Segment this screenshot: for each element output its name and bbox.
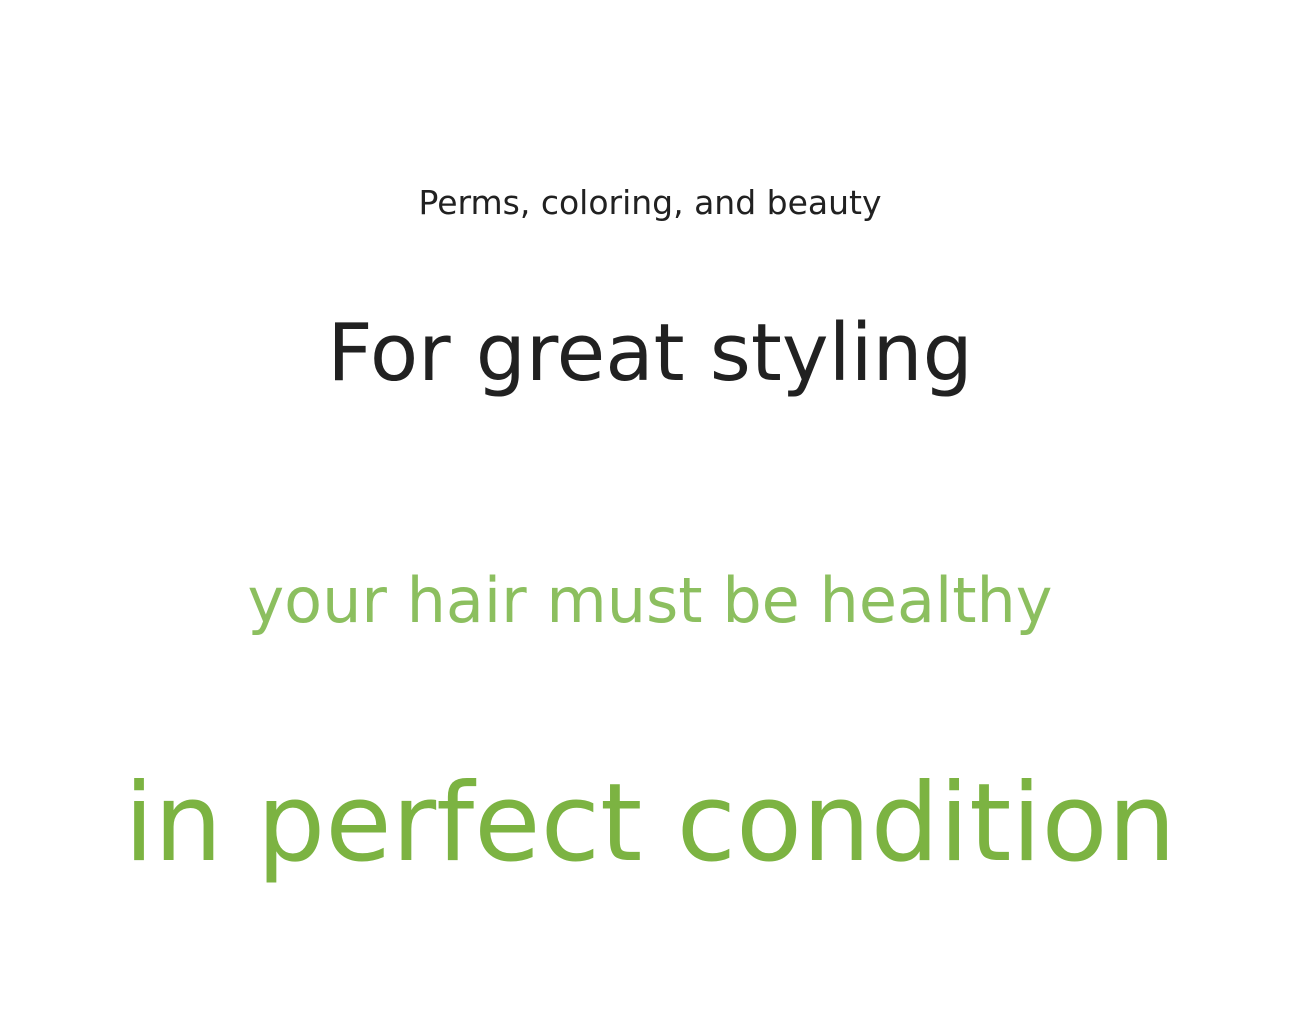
headline-text: For great styling — [0, 314, 1300, 393]
subline-text: your hair must be healthy — [0, 570, 1300, 632]
emphasis-text: in perfect condition — [0, 770, 1300, 878]
slide-canvas: Perms, coloring, and beauty For great st… — [0, 0, 1300, 1030]
kicker-text: Perms, coloring, and beauty — [0, 186, 1300, 219]
